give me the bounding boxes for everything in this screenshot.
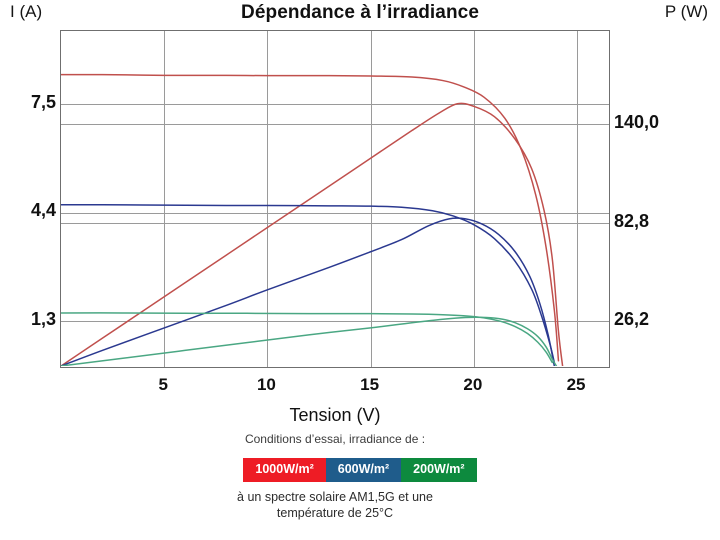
chart-figure: Dépendance à l’irradiance I (A) P (W) 1,… xyxy=(0,0,720,540)
chart-title: Dépendance à l’irradiance xyxy=(0,2,720,24)
y-tick-left-2: 7,5 xyxy=(0,92,56,113)
legend-item-2: 200W/m² xyxy=(401,458,476,482)
y-tick-left-0: 1,3 xyxy=(0,309,56,330)
y-axis-right-label: P (W) xyxy=(665,2,708,22)
legend-conditions-label: Conditions d’essai, irradiance de : xyxy=(60,432,610,446)
curve-1 xyxy=(61,103,563,366)
legend-items: 1000W/m²600W/m²200W/m² xyxy=(243,458,476,482)
legend-item-1: 600W/m² xyxy=(326,458,401,482)
y-tick-left-1: 4,4 xyxy=(0,200,56,221)
curve-4 xyxy=(61,313,552,363)
y-tick-right-2: 140,0 xyxy=(614,112,659,133)
x-tick-0: 5 xyxy=(143,375,183,395)
x-axis-label: Tension (V) xyxy=(60,405,610,426)
caption-line-1: à un spectre solaire AM1,5G et une xyxy=(60,489,610,505)
y-tick-right-0: 26,2 xyxy=(614,309,649,330)
x-tick-3: 20 xyxy=(453,375,493,395)
figure-caption: à un spectre solaire AM1,5G et une tempé… xyxy=(60,489,610,521)
x-tick-1: 10 xyxy=(246,375,286,395)
x-tick-2: 15 xyxy=(350,375,390,395)
y-axis-left-label: I (A) xyxy=(10,2,42,22)
plot-area xyxy=(60,30,610,368)
caption-line-2: température de 25°C xyxy=(60,505,610,521)
curve-5 xyxy=(61,317,556,366)
x-tick-4: 25 xyxy=(556,375,596,395)
curve-3 xyxy=(61,218,554,366)
legend: 1000W/m²600W/m²200W/m² xyxy=(0,458,720,482)
y-tick-right-1: 82,8 xyxy=(614,211,649,232)
legend-item-0: 1000W/m² xyxy=(243,458,325,482)
curve-layer xyxy=(61,31,608,366)
